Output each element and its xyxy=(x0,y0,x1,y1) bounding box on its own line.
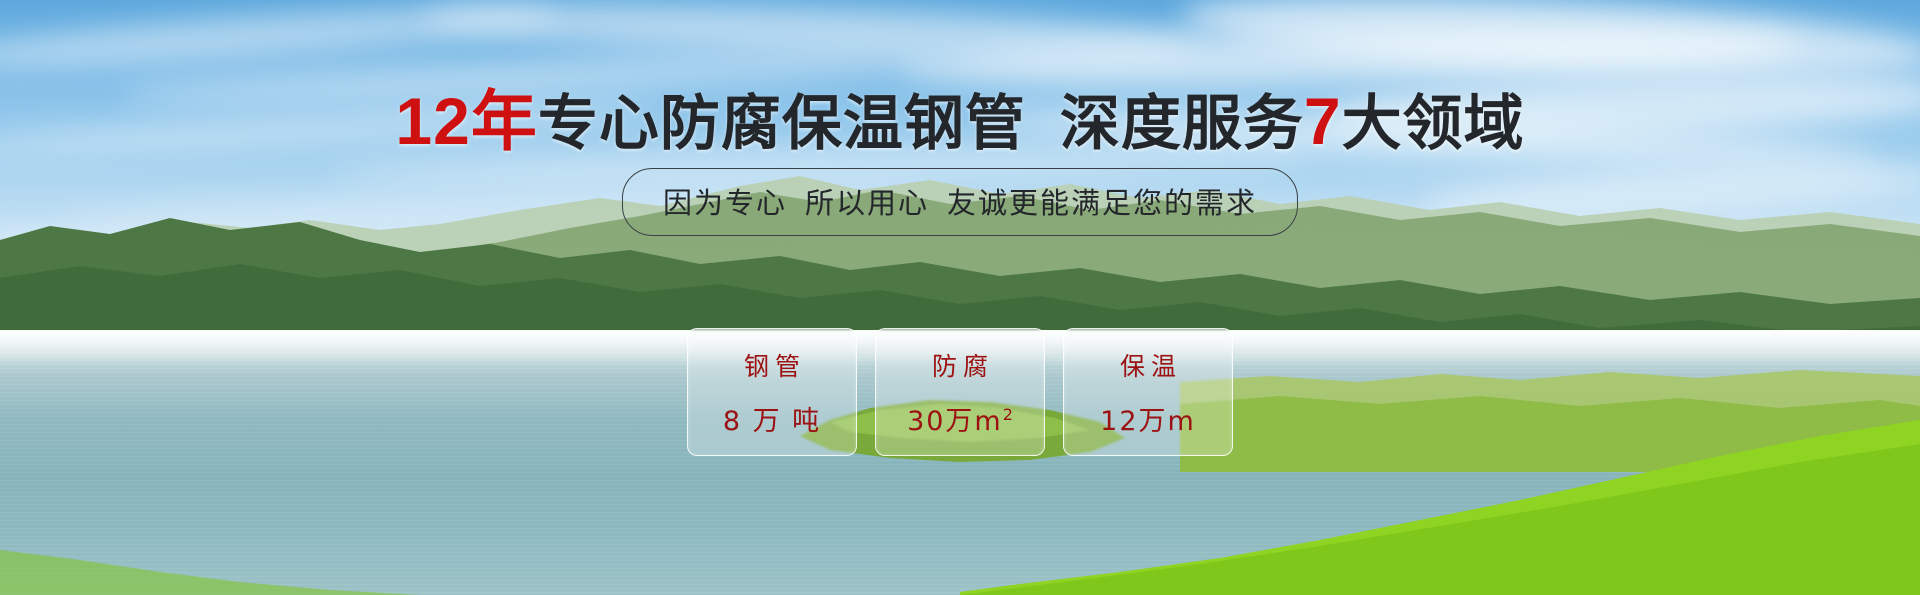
stat-value-text: 8 万 吨 xyxy=(723,406,821,437)
subtitle-pill: 因为专心所以用心友诚更能满足您的需求 xyxy=(622,168,1298,236)
stat-value: 30万m2 xyxy=(907,399,1013,438)
headline-part1: 专心防腐保温钢管 xyxy=(538,90,1026,157)
headline-years-number: 12 xyxy=(395,84,470,158)
subtitle-seg-1: 因为专心 xyxy=(663,188,787,220)
stat-card-anticorrosion: 防腐 30万m2 xyxy=(875,328,1045,456)
stat-value: 8 万 吨 xyxy=(723,399,821,438)
subtitle-seg-2: 所以用心 xyxy=(805,188,929,220)
stat-card-steel-pipe: 钢管 8 万 吨 xyxy=(687,328,857,456)
headline-years-unit: 年 xyxy=(471,84,538,158)
stat-value-text: 12万m xyxy=(1100,406,1196,437)
headline: 12年专心防腐保温钢管深度服务7大领域 xyxy=(0,88,1920,154)
stat-value-superscript: 2 xyxy=(1003,405,1013,424)
headline-part3: 大领域 xyxy=(1342,90,1525,157)
stat-card-insulation: 保温 12万m xyxy=(1063,328,1233,456)
stat-value: 12万m xyxy=(1100,399,1196,438)
stat-value-text: 30万m xyxy=(907,406,1003,437)
promo-banner: 12年专心防腐保温钢管深度服务7大领域 因为专心所以用心友诚更能满足您的需求 钢… xyxy=(0,0,1920,595)
subtitle-seg-3: 友诚更能满足您的需求 xyxy=(947,188,1257,220)
headline-part2: 深度服务 xyxy=(1060,90,1304,157)
stat-title: 保温 xyxy=(1114,347,1182,383)
stat-card-group: 钢管 8 万 吨 防腐 30万m2 保温 12万m xyxy=(687,328,1233,456)
stat-title: 钢管 xyxy=(738,347,806,383)
headline-fields-number: 7 xyxy=(1304,84,1342,158)
stat-title: 防腐 xyxy=(926,347,994,383)
